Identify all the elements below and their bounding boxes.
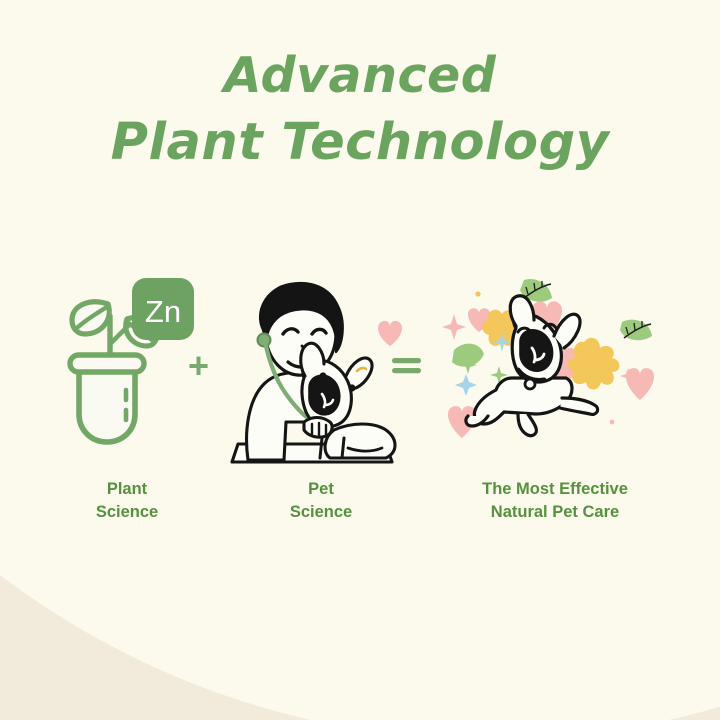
star-burst-icon xyxy=(568,338,620,390)
dot-icon-1 xyxy=(475,291,480,296)
page-title: Advanced Plant Technology xyxy=(0,46,720,174)
plant-science-graphic: Zn xyxy=(52,272,202,472)
plus-operator: + xyxy=(188,348,209,384)
zinc-badge: Zn xyxy=(132,278,194,340)
title-line-1: Advanced xyxy=(0,46,720,106)
sparkle-icon-1 xyxy=(442,314,466,340)
dot-icon-3 xyxy=(610,420,615,425)
pet-science-graphic xyxy=(226,272,416,472)
icon-row: Zn xyxy=(0,272,720,472)
caption-result: The Most Effective Natural Pet Care xyxy=(430,478,680,525)
vet-hugging-dog-illustration xyxy=(232,283,395,462)
caption-pet-science: Pet Science xyxy=(226,478,416,525)
promo-banner: Advanced Plant Technology + xyxy=(0,0,720,720)
leaf-icon-3 xyxy=(620,320,652,341)
sparkle-icon-2 xyxy=(455,374,477,396)
result-graphic xyxy=(436,272,668,472)
heart-icon-4 xyxy=(626,368,654,400)
title-line-2: Plant Technology xyxy=(0,112,720,174)
heart-accent-icon xyxy=(378,321,402,346)
zinc-badge-label: Zn xyxy=(145,294,181,329)
caption-plant-science: Plant Science xyxy=(52,478,202,525)
equals-operator xyxy=(392,352,422,378)
